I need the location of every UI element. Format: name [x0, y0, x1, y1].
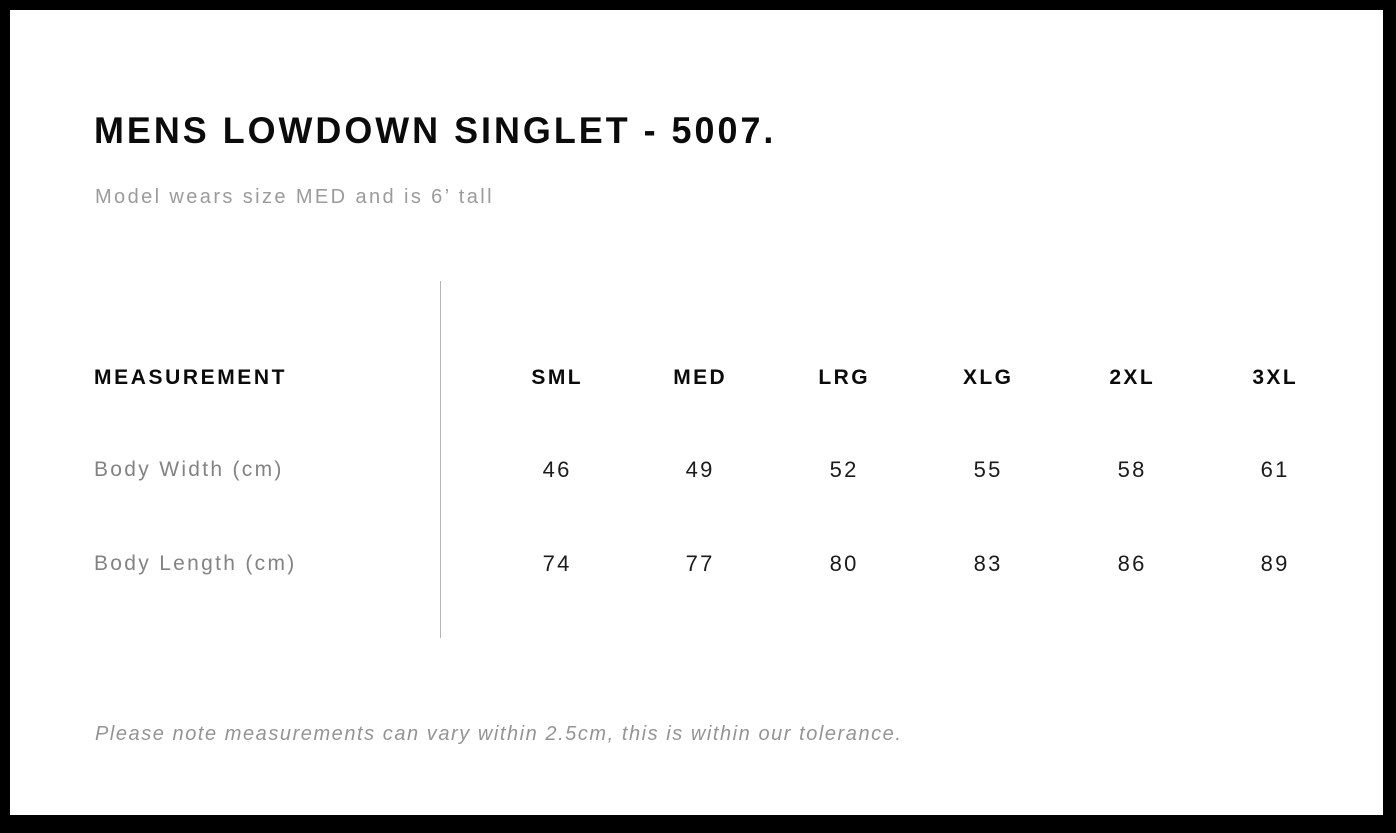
row-label-body-width: Body Width (cm) [94, 450, 284, 490]
cell-body-width-xlg: 55 [917, 450, 1057, 490]
column-header-measurement: MEASUREMENT [94, 358, 287, 398]
row-label-body-length: Body Length (cm) [94, 544, 297, 584]
cell-body-width-3xl: 61 [1204, 450, 1344, 490]
table-row: Body Length (cm) 74 77 80 83 86 89 [10, 544, 1383, 584]
size-chart-card: MENS LOWDOWN SINGLET - 5007. Model wears… [10, 10, 1383, 815]
cell-body-width-sml: 46 [486, 450, 626, 490]
size-chart-table: MEASUREMENT SML MED LRG XLG 2XL 3XL Body… [10, 10, 1383, 815]
column-header-lrg: LRG [773, 358, 913, 398]
cell-body-length-med: 77 [629, 544, 769, 584]
cell-body-length-xlg: 83 [917, 544, 1057, 584]
column-header-2xl: 2XL [1061, 358, 1201, 398]
cell-body-length-lrg: 80 [773, 544, 913, 584]
size-chart-frame: MENS LOWDOWN SINGLET - 5007. Model wears… [0, 0, 1396, 833]
cell-body-length-3xl: 89 [1204, 544, 1344, 584]
cell-body-width-lrg: 52 [773, 450, 913, 490]
cell-body-length-2xl: 86 [1061, 544, 1201, 584]
cell-body-length-sml: 74 [486, 544, 626, 584]
table-header-row: MEASUREMENT SML MED LRG XLG 2XL 3XL [10, 358, 1383, 398]
column-header-sml: SML [486, 358, 626, 398]
tolerance-note: Please note measurements can vary within… [95, 722, 902, 746]
table-row: Body Width (cm) 46 49 52 55 58 61 [10, 450, 1383, 490]
cell-body-width-2xl: 58 [1061, 450, 1201, 490]
column-header-3xl: 3XL [1204, 358, 1344, 398]
cell-body-width-med: 49 [629, 450, 769, 490]
column-header-xlg: XLG [917, 358, 1057, 398]
column-header-med: MED [629, 358, 769, 398]
